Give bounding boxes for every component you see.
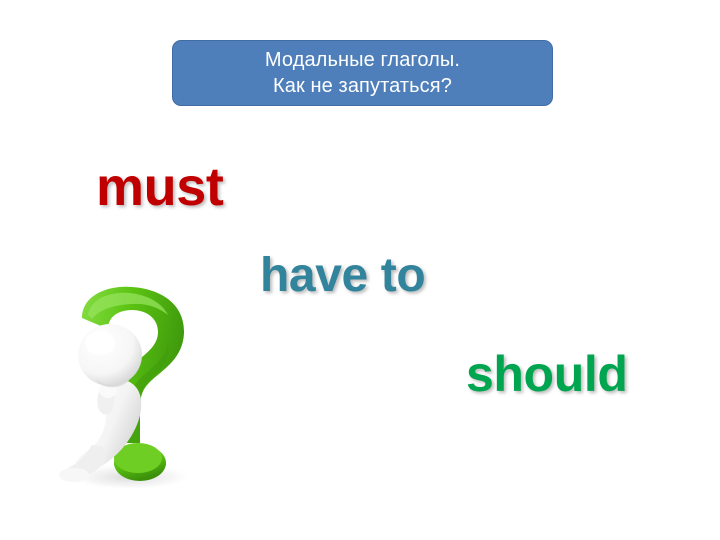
title-line-2: Как не запутаться? xyxy=(273,73,452,99)
modal-verb-must: must xyxy=(96,156,223,218)
title-callout-box: Модальные глаголы. Как не запутаться? xyxy=(172,40,553,106)
slide-canvas: Модальные глаголы. Как не запутаться? mu… xyxy=(0,0,720,540)
figure-foot xyxy=(59,468,89,482)
modal-verb-should: should xyxy=(466,345,627,403)
figure-head xyxy=(78,324,142,386)
modal-verb-have-to: have to xyxy=(260,248,425,303)
question-mark-thinking-figure-icon xyxy=(52,285,197,495)
figure-head-highlight xyxy=(85,331,115,355)
title-line-1: Модальные глаголы. xyxy=(265,47,460,73)
